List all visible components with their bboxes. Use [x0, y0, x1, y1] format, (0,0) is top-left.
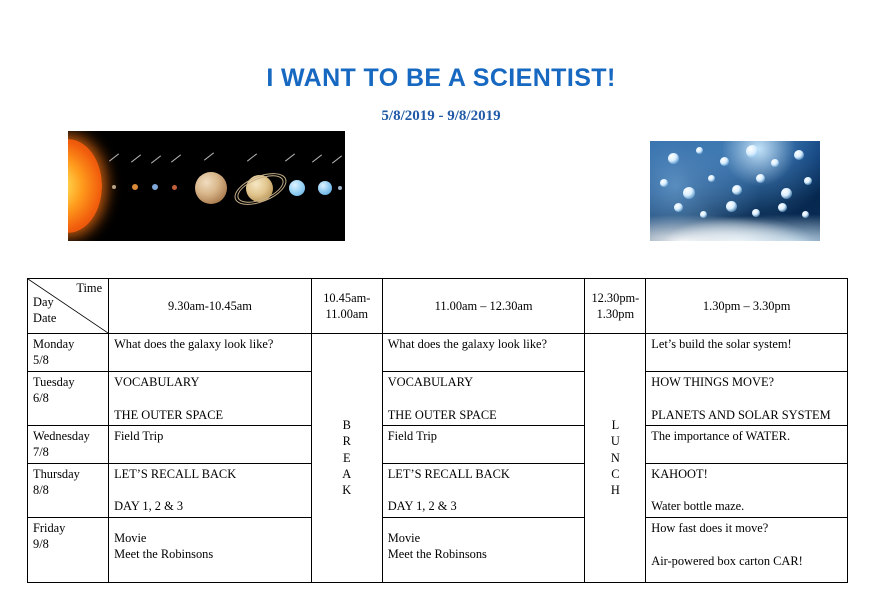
row-daydate-monday: Monday 5/8: [28, 334, 109, 372]
cell-monday-slot1: What does the galaxy look like?: [109, 334, 312, 372]
sun-graphic: [68, 139, 102, 233]
water-splash-image: [650, 141, 820, 241]
lunch-letter: N: [590, 450, 640, 466]
row-daydate-friday: Friday 9/8: [28, 517, 109, 582]
header-label-time: Time: [76, 280, 102, 296]
table-header-row: Time Day Date 9.30am-10.45am 10.45am-11.…: [28, 279, 848, 334]
row-daydate-thursday: Thursday 8/8: [28, 463, 109, 517]
header-timeslot-1: 9.30am-10.45am: [109, 279, 312, 334]
cell-tuesday-slot3: HOW THINGS MOVE? PLANETS AND SOLAR SYSTE…: [646, 371, 848, 425]
page-title: I WANT TO BE A SCIENTIST!: [0, 64, 882, 93]
cell-friday-slot1: Movie Meet the Robinsons: [109, 517, 312, 582]
cell-thursday-slot1: LET’S RECALL BACK DAY 1, 2 & 3: [109, 463, 312, 517]
lunch-letter: H: [590, 482, 640, 498]
row-daydate-wednesday: Wednesday 7/8: [28, 425, 109, 463]
cell-wednesday-slot1: Field Trip: [109, 425, 312, 463]
cell-monday-slot2: What does the galaxy look like?: [382, 334, 585, 372]
header-timeslot-lunch: 12.30pm-1.30pm: [585, 279, 646, 334]
cell-friday-slot3: How fast does it move? Air-powered box c…: [646, 517, 848, 582]
header-timeslot-2: 11.00am – 12.30am: [382, 279, 585, 334]
header-label-date: Date: [33, 310, 56, 326]
table-row: Friday 9/8 Movie Meet the Robinsons Movi…: [28, 517, 848, 582]
cell-thursday-slot3: KAHOOT! Water bottle maze.: [646, 463, 848, 517]
break-letter: E: [317, 450, 377, 466]
lunch-letter: L: [590, 417, 640, 433]
cell-wednesday-slot3: The importance of WATER.: [646, 425, 848, 463]
date-range-subtitle: 5/8/2019 - 9/8/2019: [0, 108, 882, 125]
cell-tuesday-slot1: VOCABULARY THE OUTER SPACE: [109, 371, 312, 425]
header-timeslot-3: 1.30pm – 3.30pm: [646, 279, 848, 334]
cell-monday-slot3: Let’s build the solar system!: [646, 334, 848, 372]
header-label-day: Day: [33, 294, 54, 310]
cell-wednesday-slot2: Field Trip: [382, 425, 585, 463]
break-letter: B: [317, 417, 377, 433]
cell-thursday-slot2: LET’S RECALL BACK DAY 1, 2 & 3: [382, 463, 585, 517]
lunch-letter: U: [590, 433, 640, 449]
lunch-letter: C: [590, 466, 640, 482]
header-timeslot-break: 10.45am-11.00am: [311, 279, 382, 334]
row-daydate-tuesday: Tuesday 6/8: [28, 371, 109, 425]
solar-system-image: [68, 131, 345, 241]
water-foam: [650, 211, 820, 241]
cell-friday-slot2: Movie Meet the Robinsons: [382, 517, 585, 582]
table-row: Wednesday 7/8 Field Trip Field Trip The …: [28, 425, 848, 463]
break-column: B R E A K: [311, 334, 382, 583]
cell-tuesday-slot2: VOCABULARY THE OUTER SPACE: [382, 371, 585, 425]
break-letter: K: [317, 482, 377, 498]
table-row: Tuesday 6/8 VOCABULARY THE OUTER SPACE V…: [28, 371, 848, 425]
header-corner-daydate-time: Time Day Date: [28, 279, 109, 334]
table-row: Thursday 8/8 LET’S RECALL BACK DAY 1, 2 …: [28, 463, 848, 517]
lunch-column: L U N C H: [585, 334, 646, 583]
break-letter: A: [317, 466, 377, 482]
table-row: Monday 5/8 What does the galaxy look lik…: [28, 334, 848, 372]
break-letter: R: [317, 433, 377, 449]
weekly-timetable: Time Day Date 9.30am-10.45am 10.45am-11.…: [27, 278, 848, 583]
